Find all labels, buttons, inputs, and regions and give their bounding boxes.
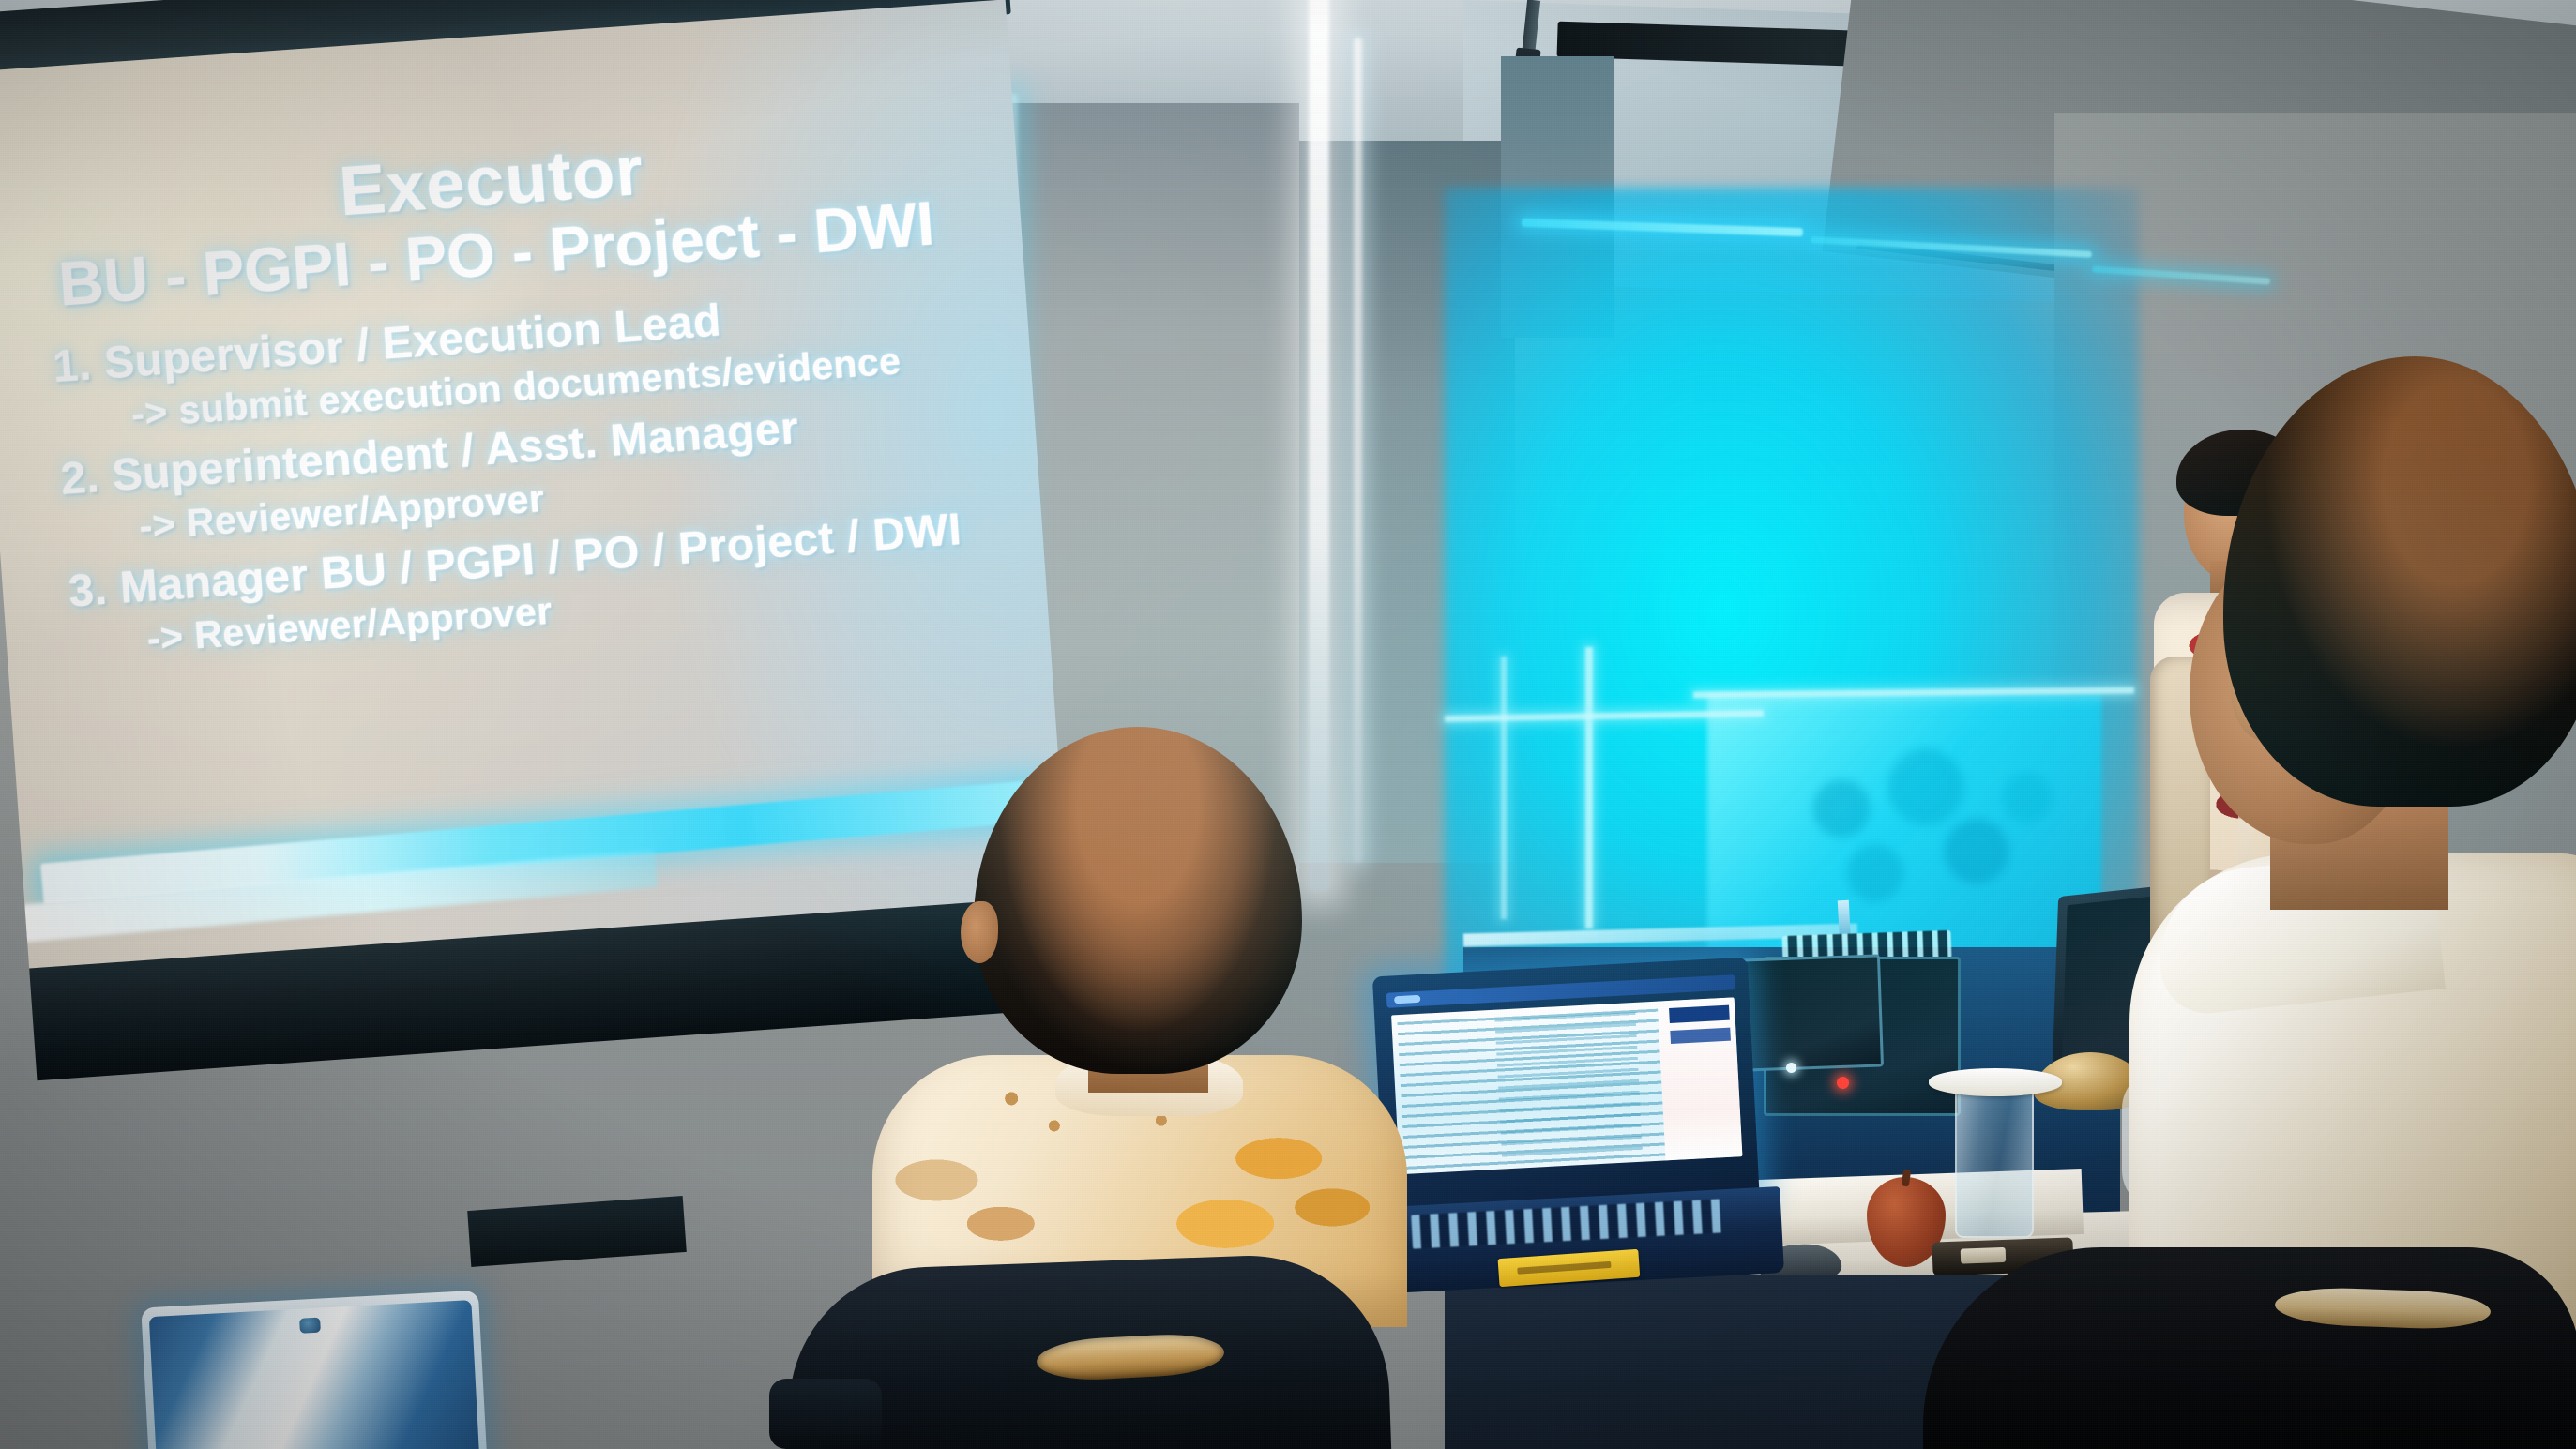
window-mullion (1501, 657, 1507, 919)
seated-attendee-center (901, 727, 1388, 1308)
meeting-room-scene: Executor BU - PGPI - PO - Project - DWI … (0, 0, 2576, 1449)
window-mullion (1585, 647, 1593, 928)
laptop-spreadsheet-column (1494, 1012, 1643, 1160)
water-glass-lid (1929, 1068, 2062, 1096)
laptop-lid (1372, 958, 1760, 1221)
status-led-red (1837, 1077, 1849, 1089)
slide-content: Executor BU - PGPI - PO - Project - DWI … (0, 111, 1038, 683)
water-glass (1955, 1088, 2034, 1238)
laptop-side-panel (1658, 997, 1743, 1160)
chair-armrest (769, 1379, 882, 1449)
office-chair[interactable] (1923, 1247, 2576, 1449)
camera-icon (299, 1318, 321, 1334)
laptop-screen[interactable] (1391, 997, 1742, 1174)
tablet-device[interactable] (141, 1291, 487, 1449)
status-led-white (1786, 1063, 1796, 1073)
window-foliage (1740, 722, 2078, 938)
laptop-panel-badge (1670, 1028, 1731, 1044)
laptop-panel-badge (1669, 1005, 1730, 1023)
attendee-hair (974, 727, 1302, 1074)
open-laptop[interactable] (1372, 956, 1793, 1314)
attendee-ear (961, 901, 998, 963)
attendee-hair (2223, 356, 2576, 807)
